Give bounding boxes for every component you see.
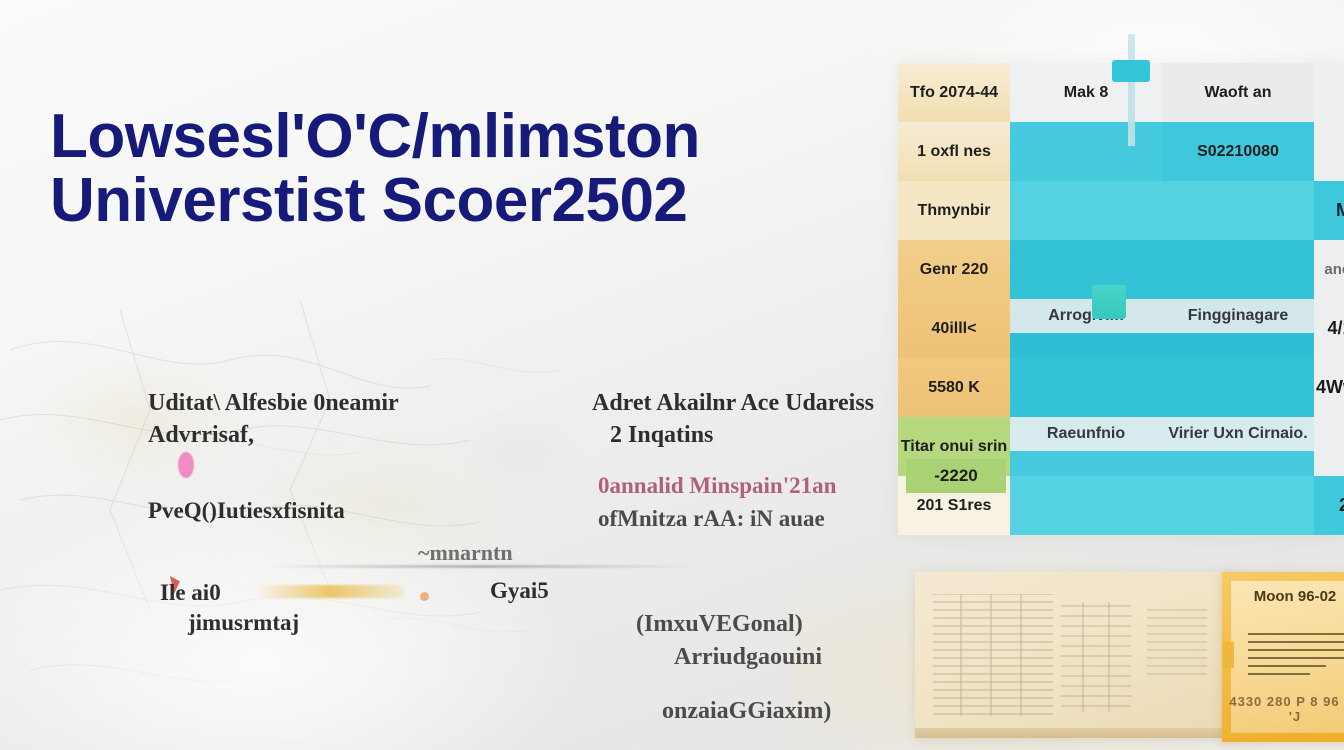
body-col1-line-2: Advrrisaf,: [148, 422, 254, 448]
table-cell-label: 5580 K: [928, 379, 980, 397]
table-cell-label: 1 oxfl nes: [917, 143, 991, 161]
table-cell-mid2[interactable]: S02210080: [1162, 122, 1314, 181]
table-cell-mid2[interactable]: Virier Uxn Cirnaio.: [1162, 417, 1314, 476]
table-cell-text: anet 7/l ber: [1324, 261, 1344, 278]
table-subheader-mid1: Raeunfnio: [1010, 417, 1162, 451]
table-cell-text: Waoft an: [1205, 84, 1272, 102]
body-col1-line-1: Uditat\ Alfesbie 0neamir: [148, 390, 399, 416]
table-cell-value[interactable]: anet 7/l ber: [1314, 240, 1344, 299]
table-row[interactable]: 40illl<: [898, 299, 1010, 358]
page-title: Lowsesl'O'C/mlimston Universtist Scoer25…: [50, 105, 850, 234]
table-cell-mid1[interactable]: [1010, 240, 1162, 299]
table-row[interactable]: Genr 220: [898, 240, 1010, 299]
pink-blob-marker: [178, 452, 194, 478]
page-title-line-2: Universtist Scoer2502: [50, 169, 850, 233]
table-cell-value[interactable]: 4Ww0 9200: [1314, 358, 1344, 417]
table-cell-text: Mak 8: [1064, 84, 1108, 102]
table-cell-mid2[interactable]: Waoft an: [1162, 63, 1314, 122]
table-cell-mid1[interactable]: Raeunfnio: [1010, 417, 1162, 476]
table-row[interactable]: Thmynbir: [898, 181, 1010, 240]
body-text-guys-label: Gyai5: [490, 578, 549, 604]
table-cell-label: Titar onui srin: [901, 438, 1007, 456]
table-cell-label: Thmynbir: [918, 202, 991, 220]
table-cell-text: 4/12:Y08: [1327, 318, 1344, 339]
table-cell-text: 4Ww0 9200: [1316, 377, 1344, 398]
infographic-canvas: Lowsesl'O'C/mlimston Universtist Scoer25…: [0, 0, 1344, 750]
table-cell-value[interactable]: 4460: [1314, 417, 1344, 476]
bottom-right-line-2: Arriudgaouini: [636, 641, 936, 674]
table-subheader-mid1: Arrogivim: [1010, 299, 1162, 333]
table-green-overlay-value[interactable]: -2220: [906, 459, 1006, 493]
body-text-left-secondary: PveQ()Iutiesxfisnita: [148, 498, 478, 524]
table-cell-mid2[interactable]: [1162, 240, 1314, 299]
body-text-faint-middle: ~mnarntn: [418, 540, 513, 566]
table-cell-mid1[interactable]: [1010, 122, 1162, 181]
table-cell-mid1[interactable]: [1010, 181, 1162, 240]
body-col2-line-1: Adret Akailnr Ace Udareiss: [592, 390, 874, 416]
highlight-text-pink: 0annalid Minspain'21an ofMnitza rAA: iN …: [598, 470, 938, 535]
table-cell-mid2[interactable]: [1162, 358, 1314, 417]
table-cell-text: 20408: [1339, 495, 1344, 516]
page-title-line-1: Lowsesl'O'C/mlimston: [50, 102, 700, 171]
table-subheader-mid2: Virier Uxn Cirnaio.: [1162, 417, 1314, 451]
left-tertiary-line-2: jimusrmtaj: [160, 608, 460, 638]
pink-text-line-2: ofMnitza rAA: iN auae: [598, 503, 938, 536]
table-cell-mid1[interactable]: [1010, 358, 1162, 417]
pink-text-line-1: 0annalid Minspain'21an: [598, 473, 836, 498]
table-cell-value[interactable]: 239s: [1314, 122, 1344, 181]
table-cell-mid2[interactable]: Fingginagare: [1162, 299, 1314, 358]
table-cell-label: 201 S1res: [917, 497, 992, 515]
table-cell-value[interactable]: 20408: [1314, 476, 1344, 535]
folder-stamp-text: 4330 280 P 8 96 50 'J: [1222, 694, 1344, 724]
folder-document: Moon 96-02 4330 280 P 8 96 50 'J: [1222, 572, 1344, 742]
ledger-rule-block-2: [1061, 602, 1131, 712]
bottom-right-line-3: onzaiaGGiaxim): [636, 673, 936, 728]
ledger-rule-block-3: [1147, 606, 1207, 678]
table-cell-mid2[interactable]: [1162, 476, 1314, 535]
table-cell-mid1[interactable]: [1010, 476, 1162, 535]
table-row[interactable]: Tfo 2074-44: [898, 63, 1010, 122]
body-col2-line-2: 2 Inqatins: [592, 420, 922, 452]
table-cell-label: Tfo 2074-44: [910, 84, 998, 102]
table-row[interactable]: 1 oxfl nes: [898, 122, 1010, 181]
body-text-left-tertiary: Ile ai0 jimusrmtaj: [160, 578, 460, 638]
ledger-footer-bar: [915, 728, 1237, 738]
table-cell-mid1[interactable]: Arrogivim: [1010, 299, 1162, 358]
table-cell-label: Genr 220: [920, 261, 988, 279]
table-cell-label: 40illl<: [932, 320, 977, 338]
table-cell-value[interactable]: 4/12:Y08: [1314, 299, 1344, 358]
table-cell-value[interactable]: Mn267: [1314, 181, 1344, 240]
table-cell-text: S02210080: [1197, 143, 1279, 161]
folder-title: Moon 96-02: [1222, 588, 1344, 605]
table-subheader-mid2: Fingginagare: [1162, 299, 1314, 333]
ledger-document: [915, 572, 1237, 738]
body-text-column-1: Uditat\ Alfesbie 0neamir Advrrisaf,: [148, 388, 618, 451]
table-cell-mid2[interactable]: [1162, 181, 1314, 240]
left-tertiary-line-1: Ile ai0: [160, 580, 221, 605]
ledger-rule-block-1: [933, 594, 1053, 716]
table-cell-text: Mn267: [1336, 200, 1344, 221]
teal-block-marker-icon: [1092, 285, 1126, 319]
body-text-bottom-right: (ImxuVEGonal) Arriudgaouini onzaiaGGiaxi…: [636, 608, 936, 728]
table-cell-value[interactable]: 2900: [1314, 63, 1344, 122]
body-text-column-2: Adret Akailnr Ace Udareiss 2 Inqatins: [592, 388, 922, 451]
folder-notch: [1222, 642, 1234, 668]
table-row[interactable]: 5580 K: [898, 358, 1010, 417]
bottom-right-line-1: (ImxuVEGonal): [636, 611, 803, 637]
table-cell-mid1[interactable]: Mak 8: [1010, 63, 1162, 122]
folder-rule-lines: [1248, 630, 1344, 678]
